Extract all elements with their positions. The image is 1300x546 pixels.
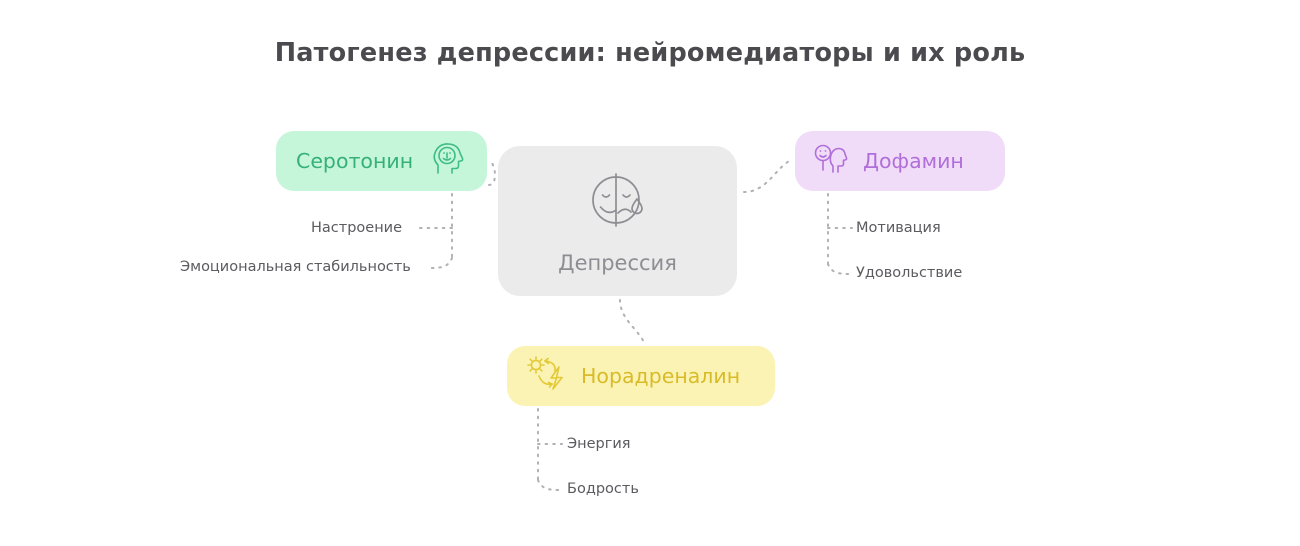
sublabel-serotonin-stability: Эмоциональная стабильность <box>180 259 411 275</box>
sublabel-dopamine-motivation: Мотивация <box>856 220 941 236</box>
sublabel-dopamine-pleasure: Удовольствие <box>856 265 962 281</box>
node-depression-label: Депрессия <box>558 251 677 275</box>
sublabel-noradrenaline-vigor: Бодрость <box>567 481 639 497</box>
connector-central-noradrenaline <box>620 300 645 345</box>
sun-lightning-energy-icon <box>525 354 567 398</box>
connector-serotonin-stability <box>428 258 452 268</box>
head-profile-smiley-icon <box>811 140 849 182</box>
connector-central-dopamine <box>744 159 793 192</box>
node-depression[interactable]: Депрессия <box>498 146 737 296</box>
sublabel-serotonin-mood: Настроение <box>311 220 402 236</box>
node-dopamine[interactable]: Дофамин <box>795 131 1005 191</box>
connector-noradrenaline-vigor <box>538 480 562 490</box>
node-dopamine-label: Дофамин <box>863 149 964 173</box>
connector-central-serotonin <box>489 159 495 185</box>
node-serotonin[interactable]: Серотонин <box>276 131 487 191</box>
sublabel-noradrenaline-energy: Энергия <box>567 436 631 452</box>
node-noradrenaline[interactable]: Норадреналин <box>507 346 775 406</box>
head-profile-face-icon <box>429 140 467 182</box>
node-noradrenaline-label: Норадреналин <box>581 364 740 388</box>
page-title: Патогенез депрессии: нейромедиаторы и их… <box>0 38 1300 68</box>
node-serotonin-label: Серотонин <box>296 149 413 173</box>
diagram-canvas: Патогенез депрессии: нейромедиаторы и их… <box>0 0 1300 546</box>
split-face-sad-happy-mask-icon <box>585 167 651 237</box>
connector-dopamine-pleasure <box>828 264 852 274</box>
